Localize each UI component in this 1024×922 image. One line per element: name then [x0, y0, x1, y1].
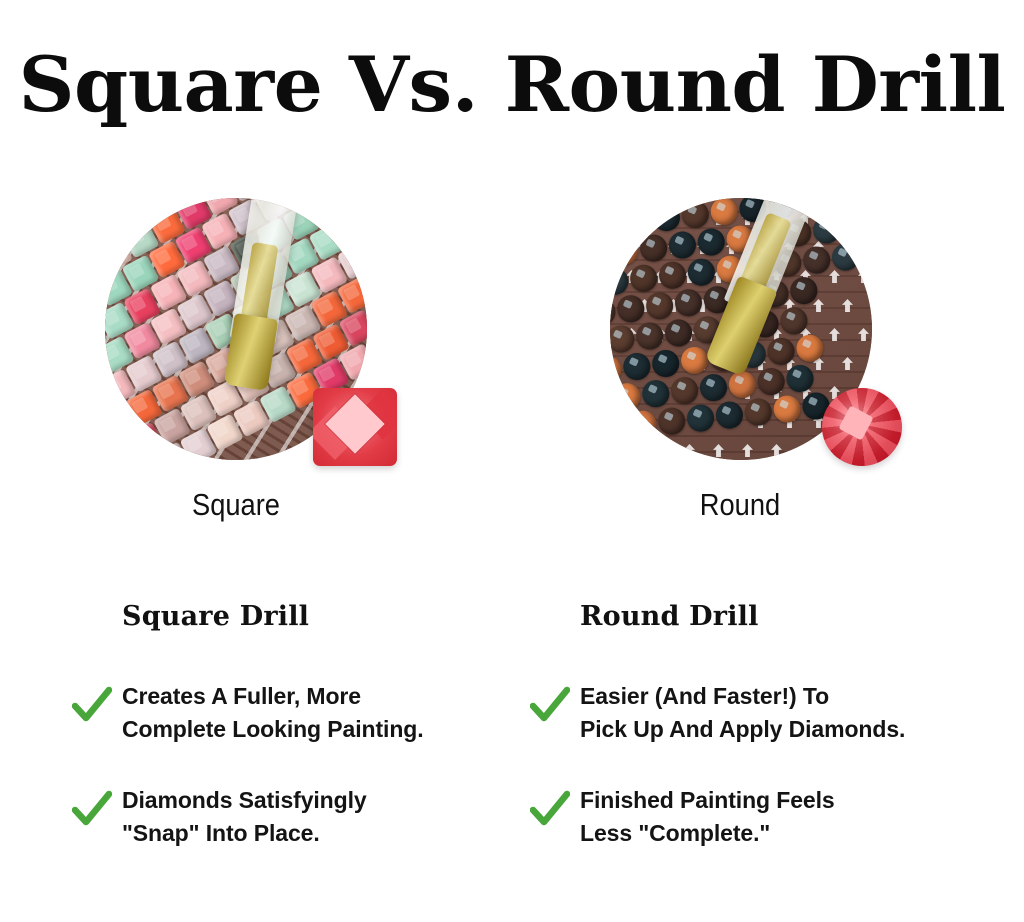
round-bullet-1-text: Easier (And Faster!) To Pick Up And Appl…	[580, 683, 905, 742]
round-drill	[756, 367, 786, 397]
round-drill	[651, 349, 681, 379]
round-drill	[825, 198, 855, 214]
round-drill	[686, 403, 716, 433]
round-gem-icon	[822, 388, 902, 466]
round-drill	[795, 333, 825, 363]
round-drill	[610, 324, 636, 354]
round-drill	[610, 236, 640, 266]
comparison-columns: Square Drill Creates A Fuller, More Comp…	[0, 600, 1024, 870]
round-drill	[622, 352, 652, 382]
round-drill	[766, 336, 796, 366]
round-drill	[785, 364, 815, 394]
round-drill	[709, 198, 739, 226]
round-drill	[812, 215, 842, 245]
round-drill	[699, 373, 729, 403]
round-drill	[680, 346, 710, 376]
round-drill	[610, 385, 613, 415]
round-drill	[645, 291, 675, 321]
photo-comparison-row	[0, 190, 1024, 490]
round-drill	[610, 355, 623, 385]
round-drill	[641, 379, 671, 409]
checkmark-icon	[72, 686, 112, 726]
round-drill	[727, 370, 757, 400]
round-drill	[657, 406, 687, 436]
round-bullet-2-text: Finished Painting Feels Less "Complete."	[580, 787, 835, 846]
round-drill	[664, 318, 694, 348]
round-drill	[628, 409, 658, 439]
round-drill	[610, 412, 629, 442]
round-drill	[629, 263, 659, 293]
round-drill	[687, 257, 717, 287]
round-drill	[674, 288, 704, 318]
round-drill	[635, 321, 665, 351]
round-drill	[668, 230, 698, 260]
page-title: Square Vs. Round Drill	[0, 42, 1024, 128]
round-drill-photo-block	[600, 190, 900, 490]
round-drill	[802, 245, 832, 275]
round-photo-caption: Round	[608, 486, 872, 524]
round-drill	[789, 276, 819, 306]
round-drill	[652, 203, 682, 233]
round-drill	[743, 397, 773, 427]
round-drill	[610, 198, 634, 208]
round-drill	[610, 297, 617, 327]
square-bullet-2-text: Diamonds Satisfyingly "Snap" Into Place.	[122, 787, 367, 846]
list-item: Easier (And Faster!) To Pick Up And Appl…	[530, 680, 990, 756]
round-drill	[869, 209, 872, 239]
list-item: Finished Painting Feels Less "Complete."	[530, 784, 990, 860]
round-drill-heading: Round Drill	[580, 600, 990, 634]
square-drill-column: Square Drill Creates A Fuller, More Comp…	[72, 600, 532, 888]
list-item: Creates A Fuller, More Complete Looking …	[72, 680, 532, 756]
round-drill	[696, 227, 726, 257]
round-drill	[616, 294, 646, 324]
round-drill	[772, 394, 802, 424]
round-drill	[610, 209, 624, 239]
round-drill	[610, 266, 630, 296]
round-drill	[715, 400, 745, 430]
square-gem-icon	[313, 388, 397, 466]
round-drill	[854, 198, 872, 211]
round-drill	[680, 200, 710, 230]
checkmark-icon	[530, 686, 570, 726]
round-drill-column: Round Drill Easier (And Faster!) To Pick…	[530, 600, 990, 888]
round-drill	[779, 306, 809, 336]
round-drill	[670, 376, 700, 406]
round-drill	[623, 206, 653, 236]
square-photo-caption: Square	[104, 486, 368, 524]
checkmark-icon	[72, 790, 112, 830]
square-bullet-1-text: Creates A Fuller, More Complete Looking …	[122, 683, 424, 742]
list-item: Diamonds Satisfyingly "Snap" Into Place.	[72, 784, 532, 860]
round-drill	[612, 382, 642, 412]
square-drill-heading: Square Drill	[122, 600, 532, 634]
square-drill-photo-block	[95, 190, 395, 490]
round-drill	[658, 260, 688, 290]
round-drill	[639, 233, 669, 263]
round-drill	[860, 239, 872, 269]
round-drill	[831, 242, 861, 272]
checkmark-icon	[530, 790, 570, 830]
round-drill	[841, 212, 871, 242]
